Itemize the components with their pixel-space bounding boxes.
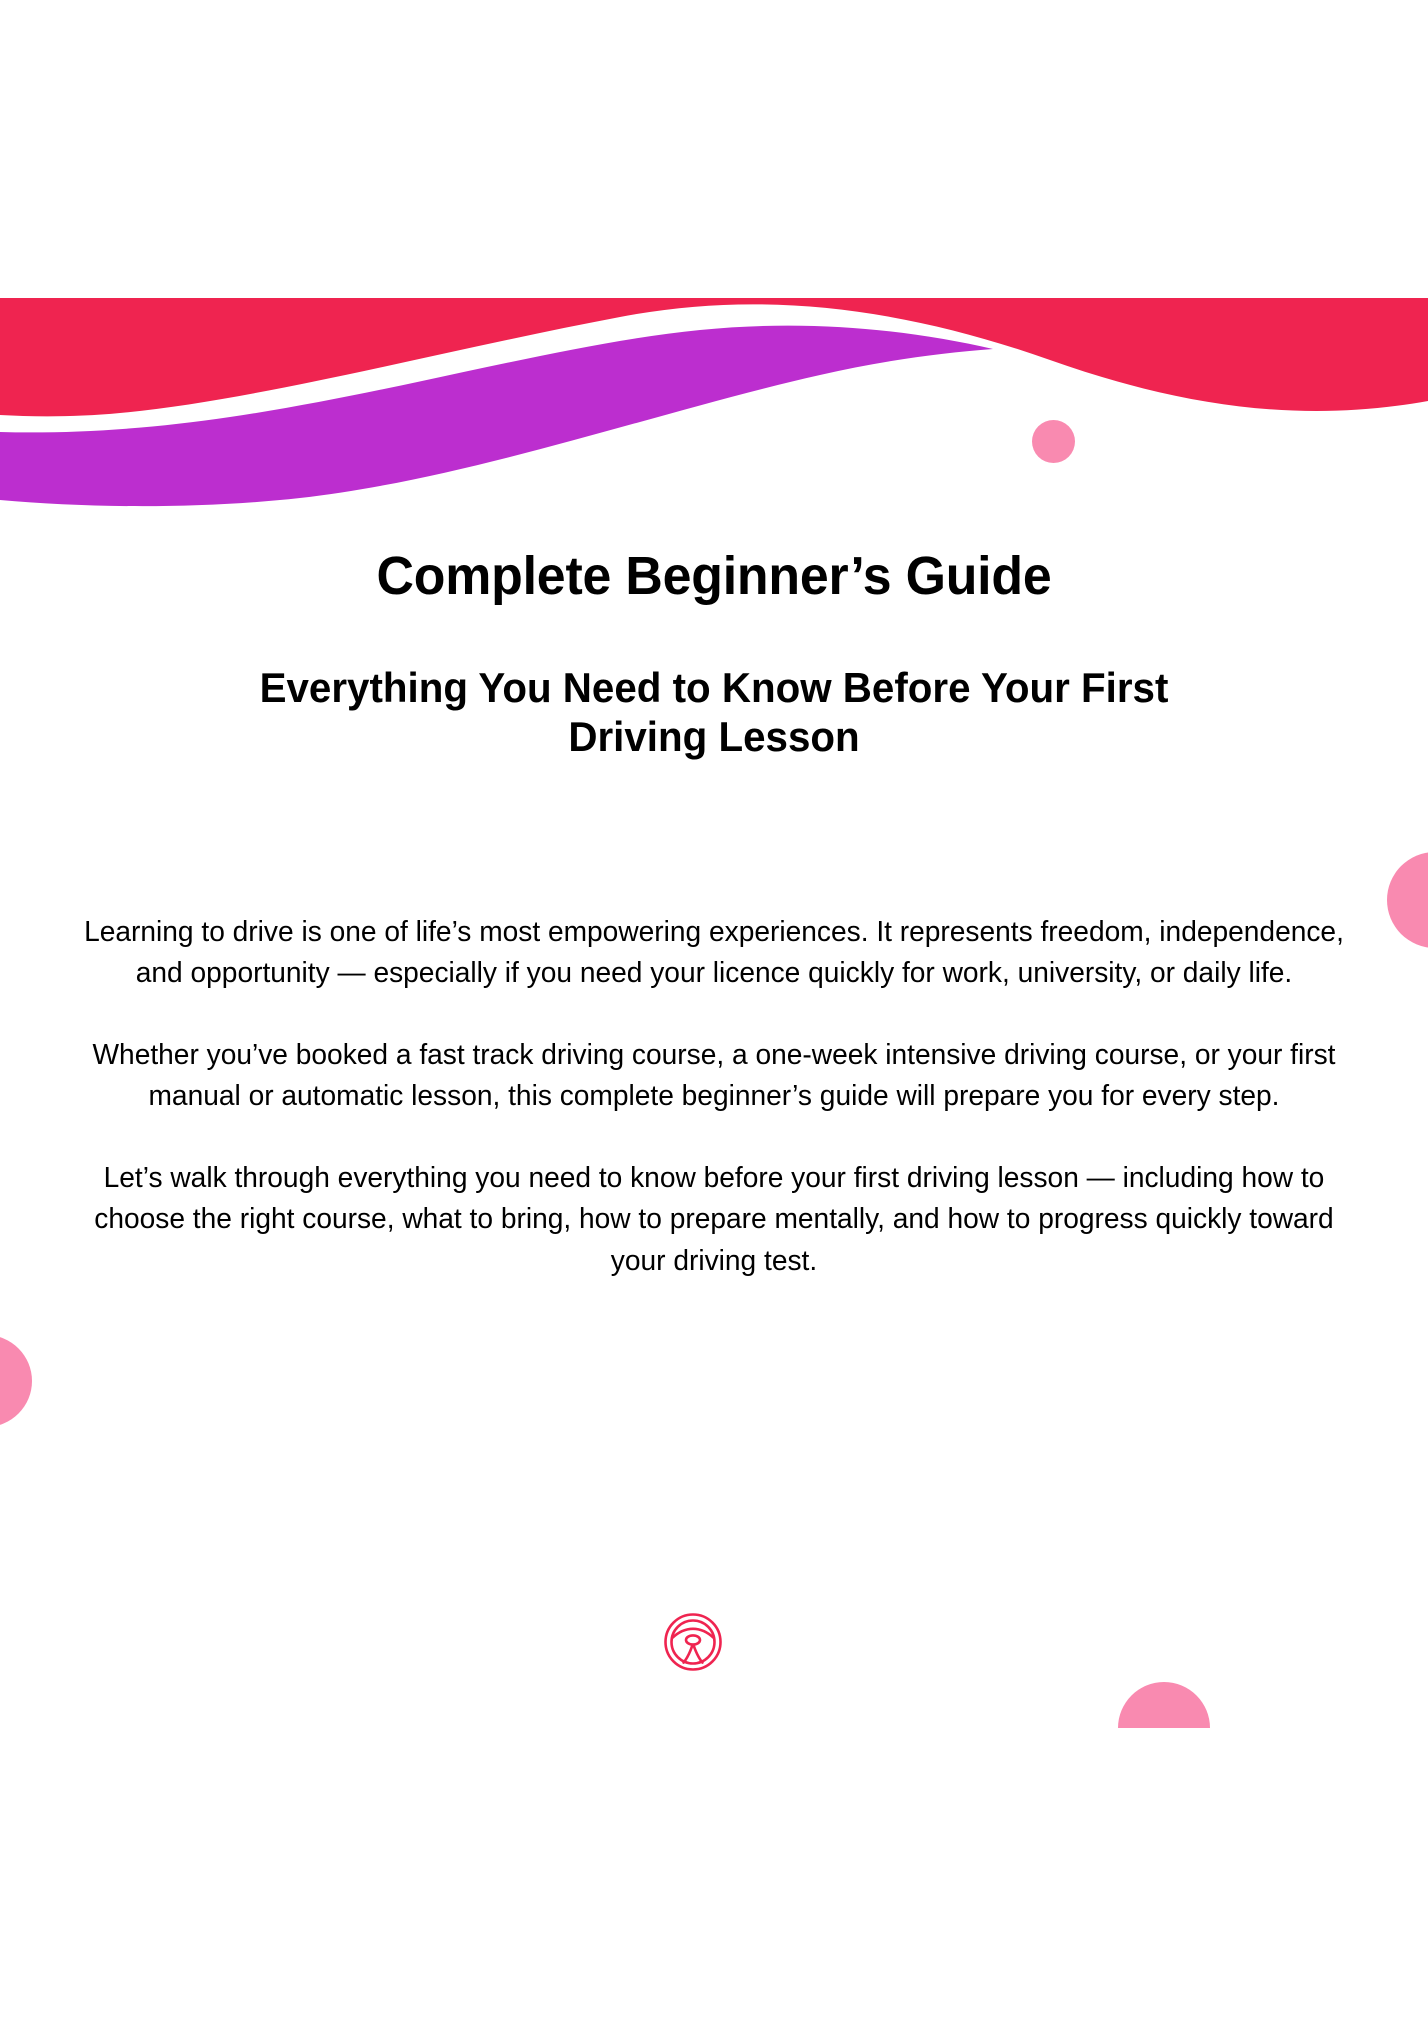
body-copy: Learning to drive is one of life’s most … bbox=[64, 912, 1364, 1322]
left-edge-accent-dot bbox=[0, 1335, 32, 1427]
header-accent-dot bbox=[1032, 420, 1075, 463]
body-paragraph: Let’s walk through everything you need t… bbox=[84, 1158, 1345, 1282]
header-wave-red-shape bbox=[0, 298, 1428, 416]
steering-wheel-icon bbox=[663, 1612, 723, 1672]
header-wave-purple-shape bbox=[0, 326, 993, 507]
bottom-accent-dome bbox=[1118, 1682, 1210, 1728]
right-edge-accent-dot bbox=[1387, 852, 1428, 948]
page-title: Complete Beginner’s Guide bbox=[29, 546, 1400, 606]
page-canvas: Complete Beginner’s Guide Everything You… bbox=[0, 0, 1428, 2028]
body-paragraph: Learning to drive is one of life’s most … bbox=[84, 912, 1345, 995]
body-paragraph: Whether you’ve booked a fast track drivi… bbox=[84, 1035, 1345, 1118]
page-subtitle: Everything You Need to Know Before Your … bbox=[234, 663, 1194, 762]
header-wave-graphic bbox=[0, 0, 1428, 530]
